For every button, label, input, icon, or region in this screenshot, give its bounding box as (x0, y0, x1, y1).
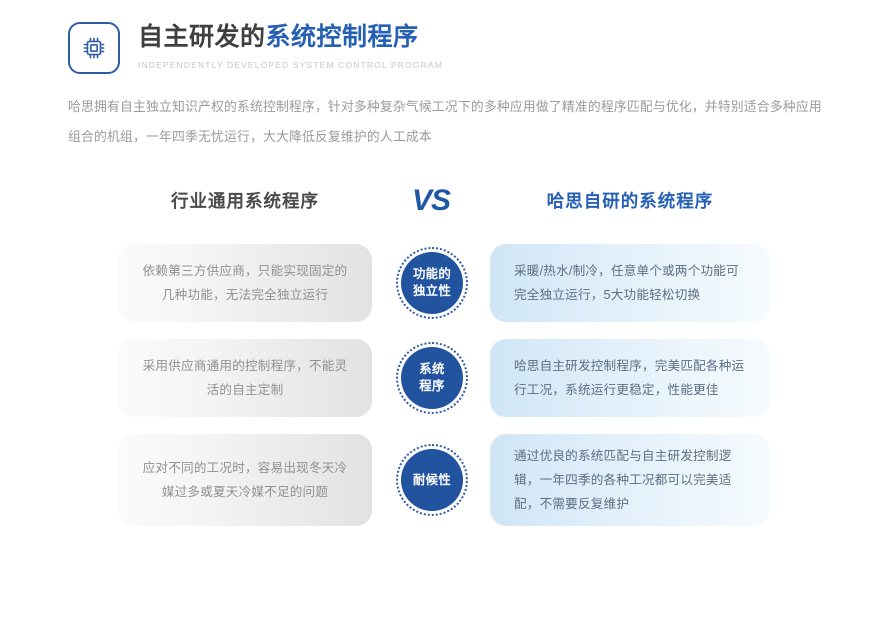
vs-label: VS (398, 180, 464, 222)
comparison-row: 依赖第三方供应商，只能实现固定的几种功能，无法完全独立运行 功能的 独立性 采暖… (0, 244, 890, 322)
badge-core: 系统 程序 (401, 347, 463, 409)
intro-paragraph: 哈思拥有自主独立知识产权的系统控制程序，针对多种复杂气候工况下的多种应用做了精准… (68, 92, 828, 152)
left-card: 应对不同的工况时，容易出现冬天冷媒过多或夏天冷媒不足的问题 (118, 434, 372, 526)
badge-line-1: 系统 (419, 362, 444, 376)
right-card: 哈思自主研发控制程序，完美匹配各种运行工况，系统运行更稳定，性能更佳 (490, 339, 770, 417)
comparison-row: 应对不同的工况时，容易出现冬天冷媒过多或夏天冷媒不足的问题 耐候性 通过优良的系… (0, 434, 890, 526)
comparison-table: 依赖第三方供应商，只能实现固定的几种功能，无法完全独立运行 功能的 独立性 采暖… (0, 244, 890, 543)
cpu-chip-icon (68, 22, 120, 74)
page-title-accent: 系统控制程序 (266, 23, 419, 51)
section-header: 自主研发的系统控制程序 INDEPENDENTLY DEVELOPED SYST… (68, 22, 443, 74)
category-badge: 系统 程序 (396, 342, 468, 414)
badge-line-2: 独立性 (413, 284, 451, 298)
badge-line-1: 耐候性 (413, 473, 451, 487)
comparison-headings: 行业通用系统程序 VS 哈思自研的系统程序 (0, 180, 890, 222)
right-card-text: 通过优良的系统匹配与自主研发控制逻辑，一年四季的各种工况都可以完美适配，不需要反… (514, 444, 746, 516)
comparison-row: 采用供应商通用的控制程序，不能灵活的自主定制 系统 程序 哈思自主研发控制程序，… (0, 339, 890, 417)
right-card: 采暖/热水/制冷，任意单个或两个功能可完全独立运行，5大功能轻松切换 (490, 244, 770, 322)
page-subtitle: INDEPENDENTLY DEVELOPED SYSTEM CONTROL P… (138, 60, 443, 70)
category-badge: 功能的 独立性 (396, 247, 468, 319)
page-title: 自主研发的系统控制程序 (138, 23, 443, 53)
badge-core: 耐候性 (401, 449, 463, 511)
left-card-text: 应对不同的工况时，容易出现冬天冷媒过多或夏天冷媒不足的问题 (140, 456, 350, 504)
left-card-text: 采用供应商通用的控制程序，不能灵活的自主定制 (140, 354, 350, 402)
left-card: 采用供应商通用的控制程序，不能灵活的自主定制 (118, 339, 372, 417)
badge-line-2: 程序 (419, 379, 444, 393)
left-card-text: 依赖第三方供应商，只能实现固定的几种功能，无法完全独立运行 (140, 259, 350, 307)
page-title-plain: 自主研发的 (138, 23, 266, 51)
left-card: 依赖第三方供应商，只能实现固定的几种功能，无法完全独立运行 (118, 244, 372, 322)
badge-core: 功能的 独立性 (401, 252, 463, 314)
badge-line-1: 功能的 (413, 267, 451, 281)
right-card-text: 哈思自主研发控制程序，完美匹配各种运行工况，系统运行更稳定，性能更佳 (514, 354, 746, 402)
category-badge: 耐候性 (396, 444, 468, 516)
right-card: 通过优良的系统匹配与自主研发控制逻辑，一年四季的各种工况都可以完美适配，不需要反… (490, 434, 770, 526)
comparison-left-heading: 行业通用系统程序 (118, 180, 372, 222)
comparison-right-heading: 哈思自研的系统程序 (490, 180, 770, 222)
header-text-block: 自主研发的系统控制程序 INDEPENDENTLY DEVELOPED SYST… (138, 22, 443, 70)
right-card-text: 采暖/热水/制冷，任意单个或两个功能可完全独立运行，5大功能轻松切换 (514, 259, 746, 307)
